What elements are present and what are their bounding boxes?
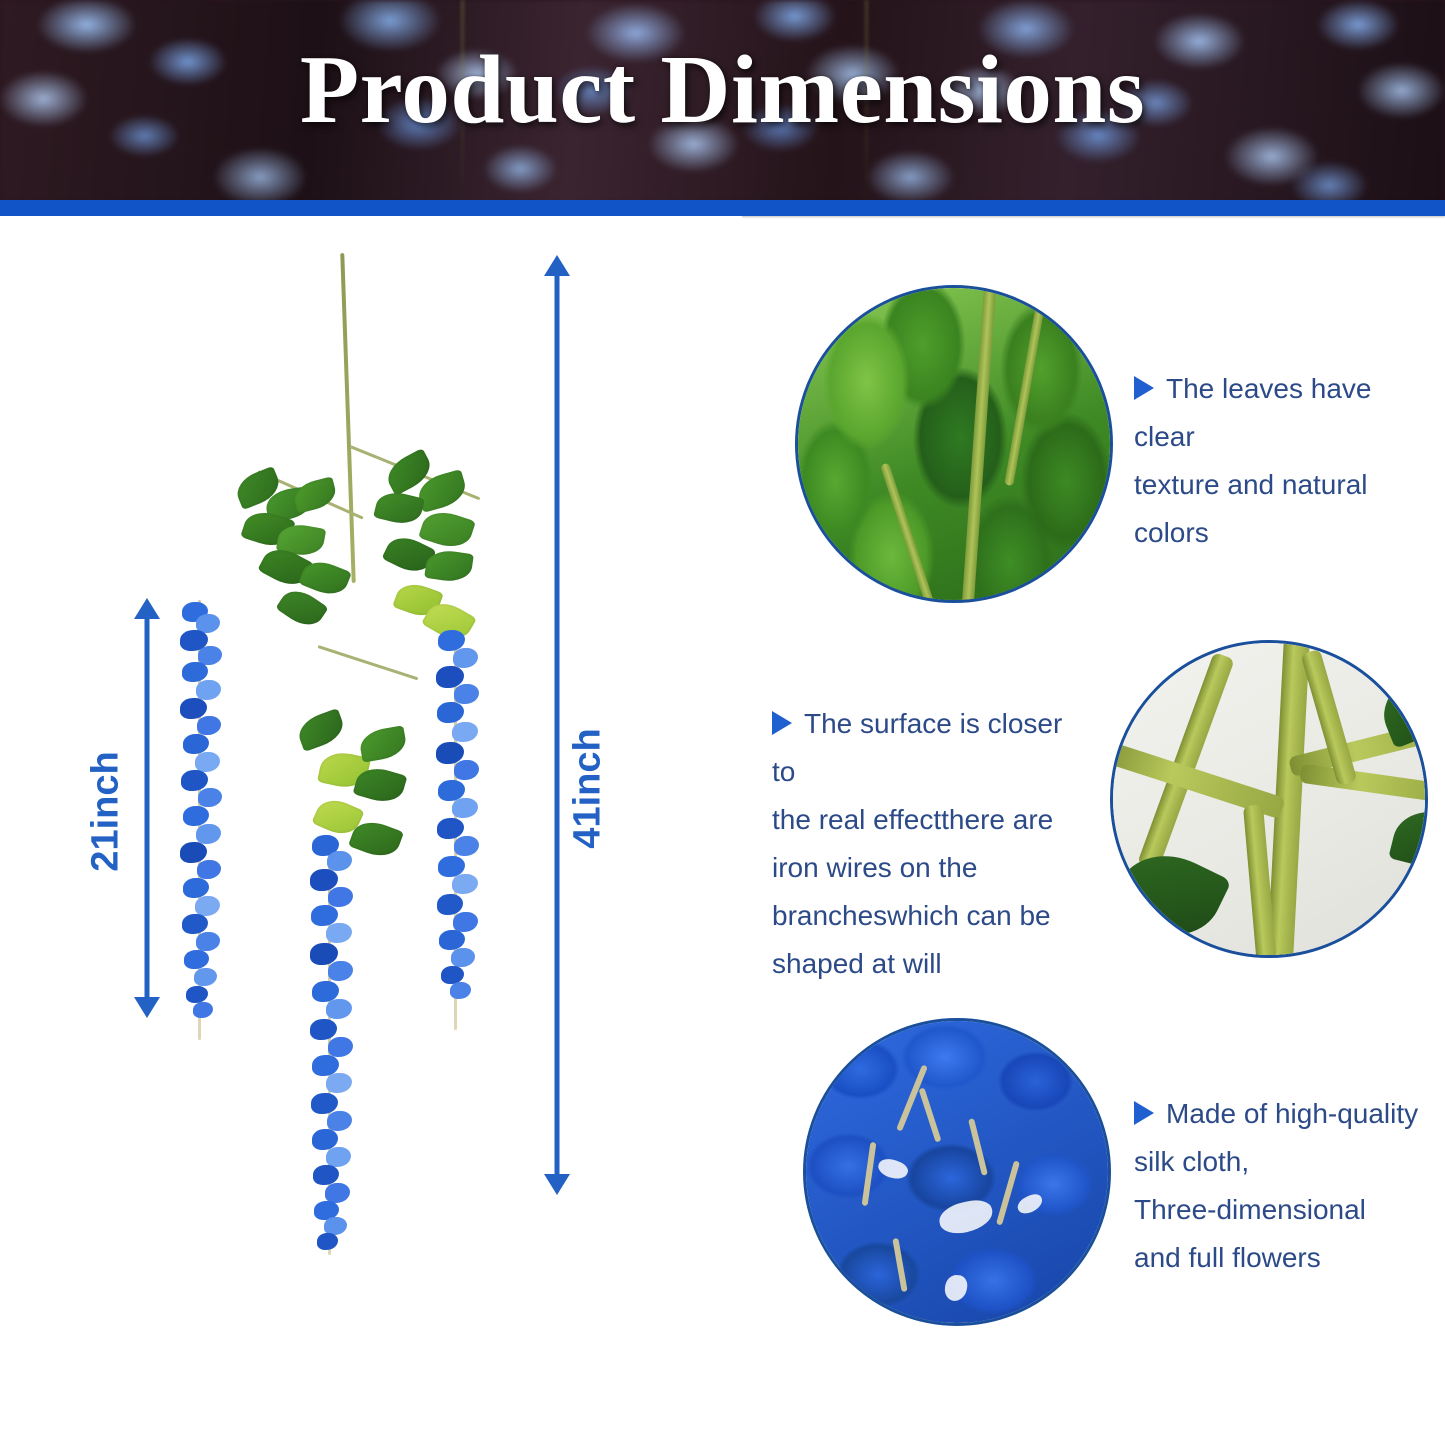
branch-mid-lower bbox=[318, 645, 419, 680]
product-dimensions-infographic: Product Dimensions bbox=[0, 0, 1445, 1445]
feature-line: and full flowers bbox=[1134, 1234, 1434, 1282]
dimension-label-21inch: 21inch bbox=[85, 751, 128, 871]
feature-text-flowers: Made of high-quality silk cloth, Three-d… bbox=[1134, 1090, 1434, 1282]
dimension-label-41inch: 41inch bbox=[567, 728, 610, 848]
leaf bbox=[373, 488, 425, 528]
arrow-head-down-icon bbox=[134, 997, 160, 1018]
feature-line: Made of high-quality bbox=[1134, 1090, 1434, 1138]
leaf bbox=[291, 476, 339, 513]
product-photo-wisteria-vine bbox=[170, 245, 550, 1255]
leaf bbox=[358, 725, 409, 763]
leaf-texture bbox=[798, 288, 1110, 600]
flower-strand-right bbox=[434, 630, 478, 1030]
bullet-triangle-icon bbox=[772, 711, 792, 735]
feature-line: colors bbox=[1134, 509, 1434, 557]
dimension-arrow-41inch bbox=[532, 255, 582, 1195]
bullet-triangle-icon bbox=[1134, 1101, 1154, 1125]
header-divider-bar bbox=[0, 200, 1445, 216]
header-banner: Product Dimensions bbox=[0, 0, 1445, 206]
feature-line: The leaves have clear bbox=[1134, 365, 1434, 461]
feature-line: texture and natural bbox=[1134, 461, 1434, 509]
dimension-line bbox=[145, 616, 150, 1000]
page-title: Product Dimensions bbox=[0, 0, 1445, 206]
branch-texture bbox=[1113, 643, 1425, 955]
feature-line: silk cloth, bbox=[1134, 1138, 1434, 1186]
flower-texture bbox=[806, 1021, 1108, 1323]
arrow-head-down-icon bbox=[544, 1174, 570, 1195]
feature-image-flowers bbox=[803, 1018, 1111, 1326]
feature-line: The surface is closer to bbox=[772, 700, 1092, 796]
dimension-arrow-21inch bbox=[122, 598, 172, 1018]
feature-text-branches: The surface is closer to the real effect… bbox=[772, 700, 1092, 988]
feature-line: Three-dimensional bbox=[1134, 1186, 1434, 1234]
feature-image-branches bbox=[1110, 640, 1428, 958]
vine-main-stem bbox=[340, 253, 356, 583]
bullet-triangle-icon bbox=[1134, 376, 1154, 400]
feature-text-leaves: The leaves have clear texture and natura… bbox=[1134, 365, 1434, 557]
dimension-line bbox=[555, 273, 560, 1177]
feature-line: shaped at will bbox=[772, 940, 1092, 988]
flower-strand-left bbox=[178, 600, 222, 1040]
leaf bbox=[294, 708, 347, 752]
feature-image-leaves bbox=[795, 285, 1113, 603]
feature-line: iron wires on the bbox=[772, 844, 1092, 892]
feature-line: the real effectthere are bbox=[772, 796, 1092, 844]
flower-strand-middle bbox=[308, 835, 352, 1255]
feature-line: brancheswhich can be bbox=[772, 892, 1092, 940]
